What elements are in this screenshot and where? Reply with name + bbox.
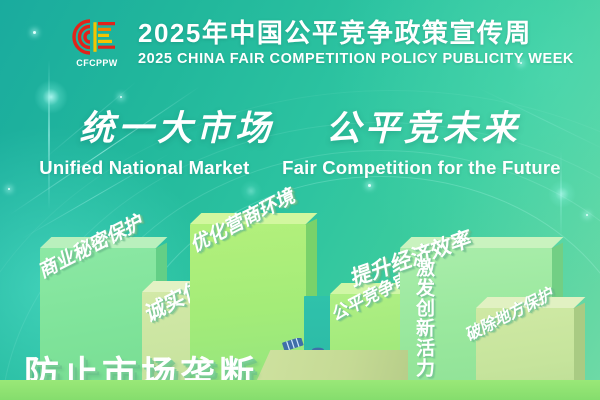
promo-banner: CFCPPW 2025年中国公平竞争政策宣传周 2025 CHINA FAIR … xyxy=(0,0,600,400)
block-label-stimulate-innovation: 激发创新活力 xyxy=(410,258,437,378)
page-title-cn: 2025年中国公平竞争政策宣传周 xyxy=(138,19,574,48)
banner-header: CFCPPW 2025年中国公平竞争政策宣传周 2025 CHINA FAIR … xyxy=(68,18,574,76)
slogan-en-right: Fair Competition for the Future xyxy=(282,157,561,178)
logo-caption: CFCPPW xyxy=(68,58,126,68)
particle-3 xyxy=(368,184,371,187)
slogan-cn-right: 公平竞未来 xyxy=(326,109,521,148)
block-city-illustration: 商业秘密保护 诚实信用 优化营商环境 公平竞争审查 xyxy=(0,200,600,400)
slogan-cn-left: 统一大市场 xyxy=(79,109,274,148)
particle-4 xyxy=(8,188,10,190)
header-titles: 2025年中国公平竞争政策宣传周 2025 CHINA FAIR COMPETI… xyxy=(138,18,574,67)
particle-2 xyxy=(120,96,122,98)
cfcppw-logo-icon: CFCPPW xyxy=(68,18,126,76)
slogan-cn: 统一大市场 公平竞未来 xyxy=(0,100,600,151)
slogan-en: Unified National Market Fair Competition… xyxy=(0,157,600,179)
page-title-en: 2025 CHINA FAIR COMPETITION POLICY PUBLI… xyxy=(138,51,574,67)
particle-1 xyxy=(33,31,36,34)
ground-strip xyxy=(0,380,600,400)
slogan-en-left: Unified National Market xyxy=(39,157,249,178)
